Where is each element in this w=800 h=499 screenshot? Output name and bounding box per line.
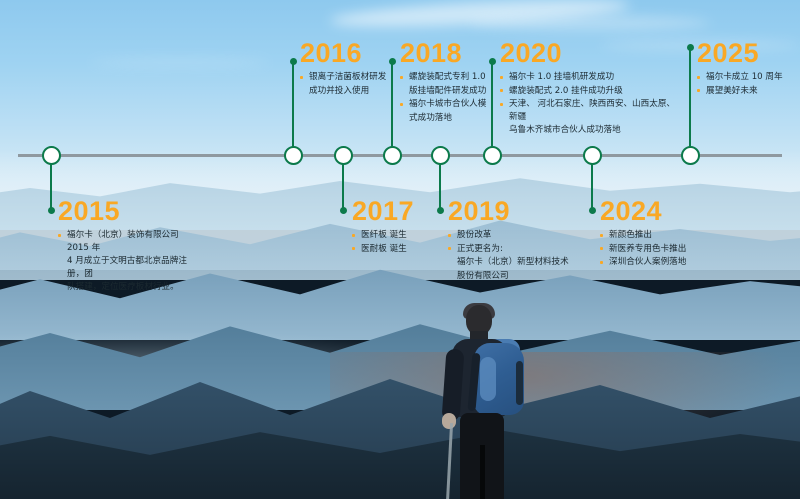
milestone-card-2017[interactable]: 2017 医纤板 诞生 医耐板 诞生	[352, 196, 432, 256]
milestone-card-2016[interactable]: 2016 银离子洁菌板材研发 成功并投入使用	[300, 38, 392, 98]
milestone-year-2015: 2015	[58, 196, 202, 226]
milestone-bullets-2019: 股份改革 正式更名为: 福尔卡（北京）新型材料技术 股份有限公司	[448, 229, 578, 282]
timeline-stem-dot-2019	[437, 207, 444, 214]
bullet-item: 福尔卡 1.0 挂墙机研发成功	[500, 71, 680, 84]
bullet-item-cont: 版挂墙配件研发成功	[400, 85, 496, 98]
timeline-infographic: 2016 银离子洁菌板材研发 成功并投入使用 2018 螺旋装配式专利 1.0 …	[0, 0, 800, 499]
bullet-item: 医纤板 诞生	[352, 229, 432, 242]
timeline-node-2016[interactable]	[284, 146, 303, 165]
bullet-item-cont: 乌鲁木齐城市合伙人成功落地	[500, 124, 680, 137]
milestone-year-2017: 2017	[352, 196, 432, 226]
milestone-year-2024: 2024	[600, 196, 720, 226]
milestone-card-2018[interactable]: 2018 螺旋装配式专利 1.0 版挂墙配件研发成功 福尔卡城市合伙人模 式成功…	[400, 38, 496, 125]
backpack-highlight	[480, 357, 496, 401]
bullet-item: 展望美好未来	[697, 85, 797, 98]
timeline-stem-2015	[50, 164, 53, 210]
backpack-strap	[516, 361, 523, 405]
timeline-node-2019[interactable]	[431, 146, 450, 165]
milestone-card-2019[interactable]: 2019 股份改革 正式更名为: 福尔卡（北京）新型材料技术 股份有限公司	[448, 196, 578, 283]
milestone-bullets-2017: 医纤板 诞生 医耐板 诞生	[352, 229, 432, 255]
milestone-year-2016: 2016	[300, 38, 392, 68]
timeline-stem-dot-2024	[589, 207, 596, 214]
bullet-item: 银离子洁菌板材研发	[300, 71, 392, 84]
bullet-item: 福尔卡成立 10 周年	[697, 71, 797, 84]
milestone-year-2018: 2018	[400, 38, 496, 68]
timeline-stem-2019	[439, 164, 442, 210]
milestone-card-2015[interactable]: 2015 福尔卡（北京）装饰有限公司 2015 年 4 月成立于文明古都北京品牌…	[58, 196, 202, 295]
bullet-item-cont: 股份有限公司	[448, 270, 578, 283]
timeline-node-2015[interactable]	[42, 146, 61, 165]
bullet-item: 正式更名为:	[448, 243, 578, 256]
timeline-stem-2016	[292, 62, 295, 154]
timeline-stem-dot-2016	[290, 58, 297, 65]
bullet-item: 新医养专用色卡推出	[600, 243, 720, 256]
milestone-bullets-2015: 福尔卡（北京）装饰有限公司 2015 年 4 月成立于文明古都北京品牌注册，团 …	[58, 229, 202, 294]
bullet-item: 深圳合伙人案例落地	[600, 256, 720, 269]
timeline-node-2024[interactable]	[583, 146, 602, 165]
milestone-bullets-2018: 螺旋装配式专利 1.0 版挂墙配件研发成功 福尔卡城市合伙人模 式成功落地	[400, 71, 496, 124]
timeline-stem-dot-2015	[48, 207, 55, 214]
trekking-pole	[446, 423, 453, 499]
timeline-stem-dot-2017	[340, 207, 347, 214]
milestone-bullets-2016: 银离子洁菌板材研发 成功并投入使用	[300, 71, 392, 97]
timeline-node-2017[interactable]	[334, 146, 353, 165]
bullet-item: 螺旋装配式专利 1.0	[400, 71, 496, 84]
cloud-wisp	[470, 16, 710, 30]
milestone-bullets-2025: 福尔卡成立 10 周年 展望美好未来	[697, 71, 797, 97]
timeline-node-2025[interactable]	[681, 146, 700, 165]
timeline-stem-2024	[591, 164, 594, 210]
milestone-year-2020: 2020	[500, 38, 680, 68]
milestone-card-2020[interactable]: 2020 福尔卡 1.0 挂墙机研发成功 螺旋装配式 2.0 挂件成功升级 天津…	[500, 38, 680, 138]
bullet-item: 股份改革	[448, 229, 578, 242]
hiker-figure	[430, 305, 550, 499]
timeline-node-2020[interactable]	[483, 146, 502, 165]
bullet-item: 医耐板 诞生	[352, 243, 432, 256]
bullet-item: 福尔卡城市合伙人模	[400, 98, 496, 111]
bullet-item: 福尔卡（北京）装饰有限公司 2015 年	[58, 229, 202, 254]
timeline-stem-dot-2025	[687, 44, 694, 51]
bullet-item: 新颜色推出	[600, 229, 720, 242]
bullet-item: 天津、 河北石家庄、陕西西安、山西太原、新疆	[500, 98, 680, 123]
bullet-item-cont: 福尔卡（北京）新型材料技术	[448, 256, 578, 269]
bullet-item-cont: 式成功落地	[400, 112, 496, 125]
bullet-item: 螺旋装配式 2.0 挂件成功升级	[500, 85, 680, 98]
timeline-node-2018[interactable]	[383, 146, 402, 165]
timeline-stem-2025	[689, 48, 692, 154]
cloud-wisp	[90, 58, 270, 67]
milestone-year-2025: 2025	[697, 38, 797, 68]
milestone-bullets-2024: 新颜色推出 新医养专用色卡推出 深圳合伙人案例落地	[600, 229, 720, 269]
milestone-card-2024[interactable]: 2024 新颜色推出 新医养专用色卡推出 深圳合伙人案例落地	[600, 196, 720, 270]
hiker-leg-gap	[480, 445, 485, 499]
milestone-bullets-2020: 福尔卡 1.0 挂墙机研发成功 螺旋装配式 2.0 挂件成功升级 天津、 河北石…	[500, 71, 680, 137]
timeline-stem-2017	[342, 164, 345, 210]
bullet-item-cont: 队搭建，定位医疗板材行业。	[58, 281, 202, 294]
bullet-item-cont: 成功并投入使用	[300, 85, 392, 98]
bullet-item-cont: 4 月成立于文明古都北京品牌注册，团	[58, 255, 202, 280]
milestone-card-2025[interactable]: 2025 福尔卡成立 10 周年 展望美好未来	[697, 38, 797, 98]
milestone-year-2019: 2019	[448, 196, 578, 226]
